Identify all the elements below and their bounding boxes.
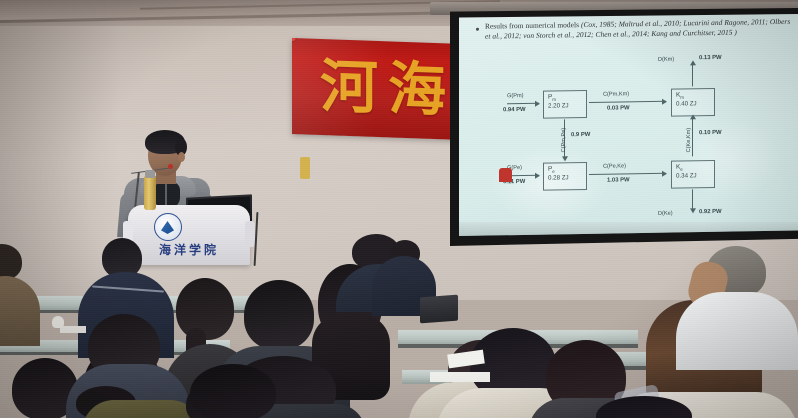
red-bottle-cap bbox=[499, 168, 512, 182]
tea-bottle-cap bbox=[145, 170, 155, 178]
arrow-diss-km bbox=[692, 64, 693, 86]
label-diss-ke: D(Ke) bbox=[658, 211, 673, 217]
box-pm-value: 2.20 ZJ bbox=[548, 102, 569, 109]
attendee-head bbox=[190, 364, 276, 418]
box-ke-value: 0.34 ZJ bbox=[676, 172, 697, 179]
paper-sheet-left bbox=[60, 326, 86, 333]
projection-screen: Results from numerical models (Cox, 1985… bbox=[459, 14, 798, 236]
microphone-head-icon bbox=[168, 164, 173, 169]
diagram-box-pe: Pe 0.28 ZJ bbox=[543, 162, 587, 191]
value-conv-ke-km: 0.10 PW bbox=[699, 130, 722, 136]
box-pm-symbol: Pm bbox=[548, 93, 556, 101]
arrow-conv-ke-km bbox=[692, 118, 693, 156]
attendee-head bbox=[244, 280, 314, 350]
diagram-box-ke: Ke 0.34 ZJ bbox=[671, 160, 715, 189]
arrow-diss-ke bbox=[692, 189, 693, 209]
box-km-value: 0.40 ZJ bbox=[676, 100, 697, 107]
audience-laptop bbox=[420, 295, 458, 324]
attendee-head bbox=[0, 244, 22, 280]
energy-cycle-diagram: Pm 2.20 ZJ Km 0.40 ZJ Pe 0.28 ZJ Ke 0.34… bbox=[459, 14, 798, 236]
label-conv-ke-km: C(Ke,Km) bbox=[686, 128, 692, 153]
lecture-hall-photo: 河海 Results from numerical models (Cox, 1… bbox=[0, 0, 798, 418]
attendee-shoulders bbox=[0, 276, 40, 346]
box-pe-symbol: Pe bbox=[548, 165, 555, 173]
value-conv-pm-km: 0.03 PW bbox=[607, 105, 630, 111]
banner-text: 河海 bbox=[320, 55, 456, 122]
presentation-slide: Results from numerical models (Cox, 1985… bbox=[459, 14, 798, 236]
box-ke-symbol: Ke bbox=[676, 163, 683, 171]
arrow-conv-pe-ke bbox=[589, 173, 666, 175]
attendee-shoulders bbox=[82, 400, 202, 418]
box-pe-value: 0.28 ZJ bbox=[548, 174, 569, 181]
emblem-wave-shape bbox=[161, 221, 174, 234]
presenter-hair bbox=[145, 130, 185, 154]
label-diss-km: D(Km) bbox=[658, 57, 674, 63]
diagram-box-pm: Pm 2.20 ZJ bbox=[543, 90, 587, 119]
diagram-box-km: Km 0.40 ZJ bbox=[671, 88, 715, 117]
presenter-ear bbox=[178, 152, 185, 162]
paper-sheet-secondary bbox=[430, 372, 490, 382]
arrow-conv-pm-km bbox=[589, 101, 666, 103]
label-conv-pm-pe: C(Pm,Pe) bbox=[561, 128, 567, 153]
box-km-symbol: Km bbox=[676, 91, 684, 99]
label-conv-pm-km: C(Pm,Km) bbox=[603, 91, 629, 97]
tea-bottle bbox=[144, 176, 156, 210]
value-diss-km: 0.13 PW bbox=[699, 55, 722, 61]
value-diss-ke: 0.92 PW bbox=[699, 209, 722, 215]
value-gen-pm: 0.94 PW bbox=[503, 107, 526, 113]
audience bbox=[0, 236, 798, 418]
value-conv-pm-pe: 0.9 PW bbox=[571, 132, 590, 138]
label-gen-pm: G(Pm) bbox=[507, 93, 524, 99]
arrow-gen-pm bbox=[507, 103, 539, 105]
water-bottle bbox=[300, 157, 310, 179]
banner-pin-icon bbox=[292, 38, 296, 41]
attendee-head bbox=[176, 278, 234, 340]
attendee-shoulders bbox=[676, 292, 798, 370]
cup bbox=[52, 316, 64, 328]
value-conv-pe-ke: 1.03 PW bbox=[607, 177, 630, 183]
label-conv-pe-ke: C(Pe,Ke) bbox=[603, 163, 626, 169]
